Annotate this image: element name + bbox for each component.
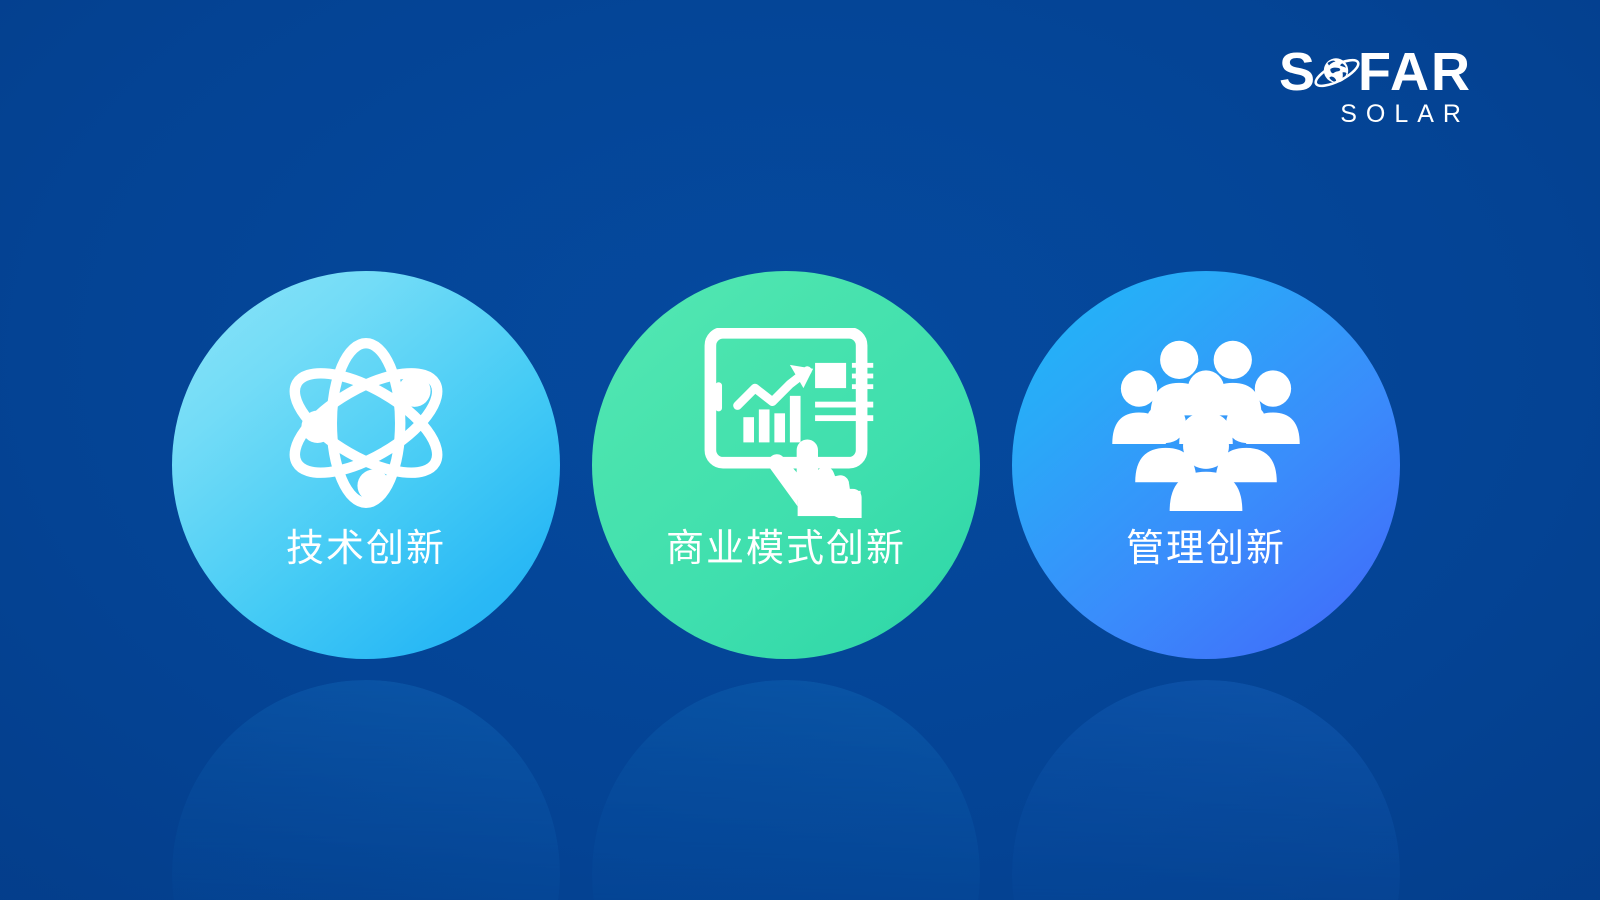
card-management-innovation[interactable]: 管理创新 xyxy=(1012,271,1400,659)
brand-wordmark: S FAR xyxy=(1232,48,1472,96)
reflection-group xyxy=(172,680,1400,900)
brand-logo: S FAR SOLAR xyxy=(1232,48,1472,126)
card-label-business-model: 商业模式创新 xyxy=(666,529,906,571)
globe-orbit-icon xyxy=(1314,51,1360,97)
brand-tagline: SOLAR xyxy=(1232,100,1472,129)
innovation-card-group: 技术创新 xyxy=(172,271,1400,659)
card-business-model-innovation[interactable]: 商业模式创新 xyxy=(592,271,980,659)
brand-name-part-1: S xyxy=(1279,42,1317,102)
reflection-management xyxy=(1012,680,1400,900)
brand-name-part-2: FAR xyxy=(1358,42,1472,102)
card-label-management: 管理创新 xyxy=(1126,529,1286,571)
card-technology-innovation[interactable]: 技术创新 xyxy=(172,271,560,659)
people-group-icon xyxy=(1106,323,1306,523)
tablet-chart-touch-icon xyxy=(686,323,886,523)
reflection-technology xyxy=(172,680,560,900)
atom-icon xyxy=(266,323,466,523)
card-label-technology: 技术创新 xyxy=(286,529,446,571)
reflection-business-model xyxy=(592,680,980,900)
slide-canvas: S FAR SOLAR xyxy=(0,0,1600,900)
